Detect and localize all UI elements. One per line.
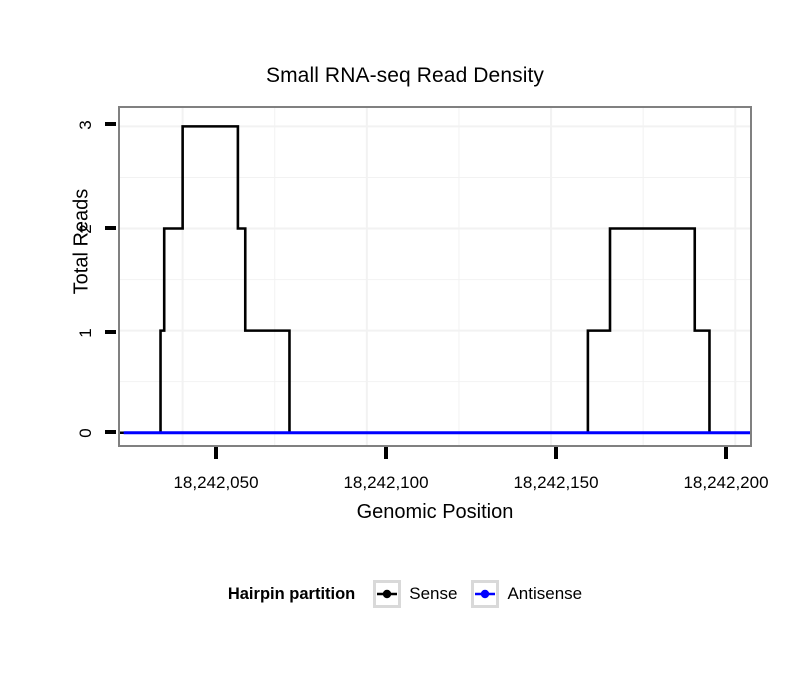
y-tick-mark-2	[105, 226, 116, 230]
plot-panel	[118, 106, 752, 447]
chart-root: Small RNA-seq Read Density Total Reads 3…	[0, 0, 810, 690]
y-tick-mark-1	[105, 330, 116, 334]
legend-entry-antisense[interactable]: Antisense	[471, 580, 582, 608]
y-tick-label-2: 2	[76, 209, 96, 249]
x-axis-label: Genomic Position	[118, 501, 752, 524]
y-tick-mark-3	[105, 122, 116, 126]
y-tick-label-1: 1	[76, 313, 96, 353]
y-tick-label-3: 3	[76, 105, 96, 145]
y-tick-mark-0	[105, 430, 116, 434]
legend-label-antisense: Antisense	[507, 584, 582, 604]
legend-title: Hairpin partition	[228, 585, 355, 604]
x-tick-mark-2	[554, 447, 558, 459]
x-tick-mark-1	[384, 447, 388, 459]
legend-key-antisense-icon	[471, 580, 499, 608]
chart-legend: Hairpin partition Sense Antisense	[0, 580, 810, 608]
plot-svg	[120, 108, 750, 445]
legend-entry-sense[interactable]: Sense	[373, 580, 457, 608]
y-tick-label-0: 0	[76, 413, 96, 453]
plot-area	[120, 108, 750, 445]
x-tick-mark-3	[724, 447, 728, 459]
x-tick-mark-0	[214, 447, 218, 459]
x-tick-label-1: 18,242,100	[306, 473, 466, 493]
x-tick-label-2: 18,242,150	[476, 473, 636, 493]
x-tick-label-3: 18,242,200	[646, 473, 806, 493]
x-tick-label-0: 18,242,050	[136, 473, 296, 493]
chart-title: Small RNA-seq Read Density	[0, 64, 810, 88]
legend-key-sense-icon	[373, 580, 401, 608]
legend-label-sense: Sense	[409, 584, 457, 604]
